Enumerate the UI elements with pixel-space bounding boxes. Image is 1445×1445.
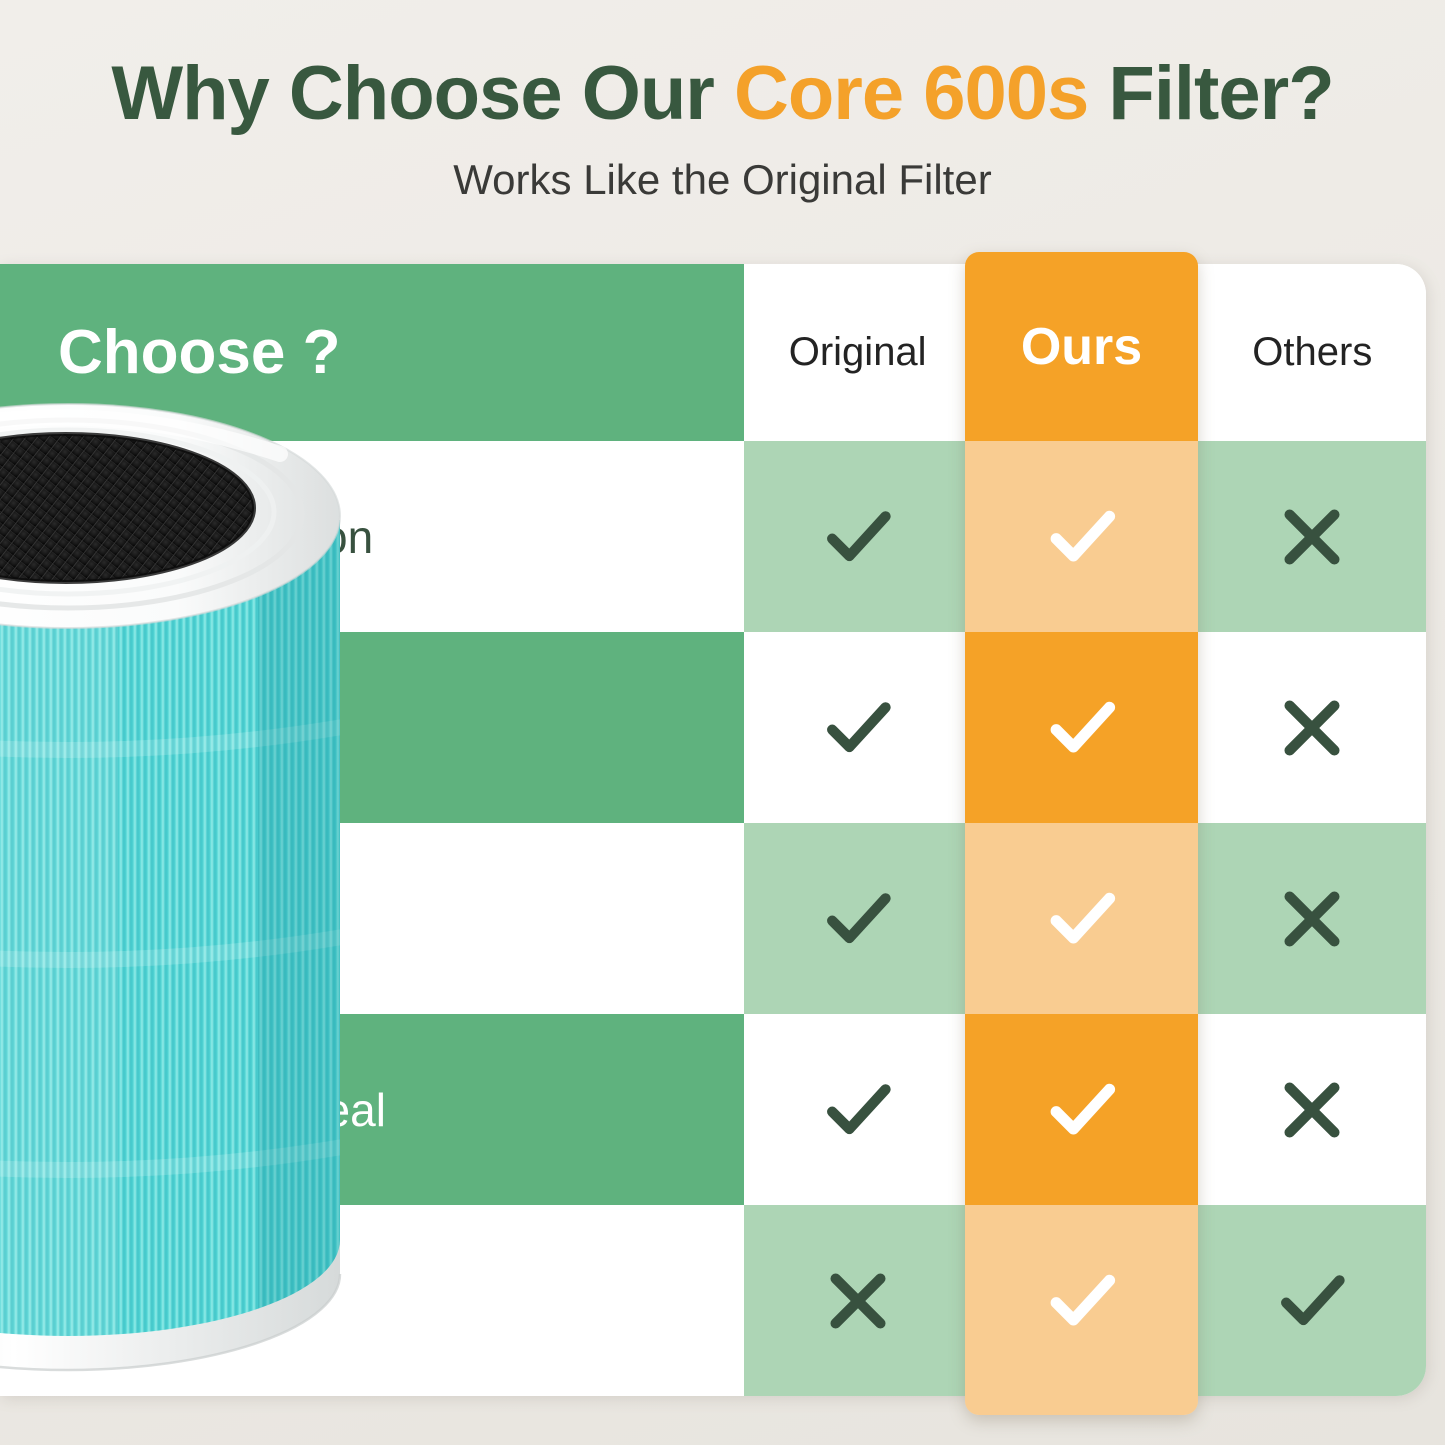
check-icon <box>1269 1258 1355 1344</box>
cell-ours <box>965 1014 1198 1205</box>
title-part-2: Filter? <box>1088 51 1333 136</box>
highlight-column-ours: Ours <box>965 252 1198 1415</box>
check-icon <box>1039 685 1125 771</box>
column-header-label: Original <box>789 330 927 375</box>
check-icon <box>815 494 901 580</box>
highlight-column-footer <box>965 1396 1198 1415</box>
cell-others <box>1199 441 1426 632</box>
table-row: Perfect Fit & Seal <box>0 1014 1426 1205</box>
cross-icon <box>1269 685 1355 771</box>
table-row: Cost-Effective <box>0 1205 1426 1396</box>
cross-icon <box>1269 1067 1355 1153</box>
header: Why Choose Our Core 600s Filter? Works L… <box>0 0 1445 252</box>
table-row: HEPA Filter <box>0 632 1426 823</box>
title-accent-model: Core 600s <box>734 51 1088 136</box>
feature-cell: Perfect Fit & Seal <box>0 1014 744 1205</box>
feature-cell: HEPA Filter <box>0 632 744 823</box>
table-header-row: Choose ? Original Others <box>0 264 1426 441</box>
column-header-others: Others <box>1199 264 1426 441</box>
check-icon <box>815 685 901 771</box>
cell-others <box>1199 823 1426 1014</box>
cell-ours <box>965 823 1198 1014</box>
feature-label: HEPA Filter <box>28 701 262 755</box>
check-icon <box>815 876 901 962</box>
page-title: Why Choose Our Core 600s Filter? <box>111 56 1333 132</box>
check-icon <box>1039 1258 1125 1344</box>
column-header-label: Others <box>1252 330 1372 375</box>
table-row: 99.97% Filtration <box>0 441 1426 632</box>
feature-cell: High Efficiency <box>0 823 744 1014</box>
cell-original <box>744 1014 971 1205</box>
check-icon <box>1039 876 1125 962</box>
table-corner-label: Choose ? <box>58 317 340 388</box>
feature-label: 99.97% Filtration <box>28 510 373 564</box>
cell-original <box>744 823 971 1014</box>
cell-others <box>1199 1205 1426 1396</box>
check-icon <box>815 1067 901 1153</box>
column-header-label: Ours <box>1021 317 1142 377</box>
infographic-page: Why Choose Our Core 600s Filter? Works L… <box>0 0 1445 1445</box>
check-icon <box>1039 1067 1125 1153</box>
feature-label: Cost-Effective <box>28 1274 313 1328</box>
page-subtitle: Works Like the Original Filter <box>453 156 991 204</box>
feature-cell: Cost-Effective <box>0 1205 744 1396</box>
check-icon <box>1039 494 1125 580</box>
title-part-1: Why Choose Our <box>111 51 734 136</box>
column-header-original: Original <box>744 264 971 441</box>
table-row: High Efficiency <box>0 823 1426 1014</box>
cell-ours <box>965 632 1198 823</box>
table-corner-cell: Choose ? <box>0 264 744 441</box>
cell-ours <box>965 441 1198 632</box>
cell-ours <box>965 1205 1198 1396</box>
feature-label: High Efficiency <box>28 892 331 946</box>
cell-others <box>1199 632 1426 823</box>
cell-original <box>744 1205 971 1396</box>
cross-icon <box>1269 494 1355 580</box>
cell-original <box>744 632 971 823</box>
cell-original <box>744 441 971 632</box>
feature-label: Perfect Fit & Seal <box>28 1083 386 1137</box>
comparison-table-card: Choose ? Original Others 99.97% Filtrati… <box>0 264 1426 1396</box>
cross-icon <box>1269 876 1355 962</box>
cell-others <box>1199 1014 1426 1205</box>
feature-cell: 99.97% Filtration <box>0 441 744 632</box>
cross-icon <box>815 1258 901 1344</box>
comparison-table: Choose ? Original Others 99.97% Filtrati… <box>0 264 1426 1396</box>
column-header-ours: Ours <box>965 252 1198 441</box>
